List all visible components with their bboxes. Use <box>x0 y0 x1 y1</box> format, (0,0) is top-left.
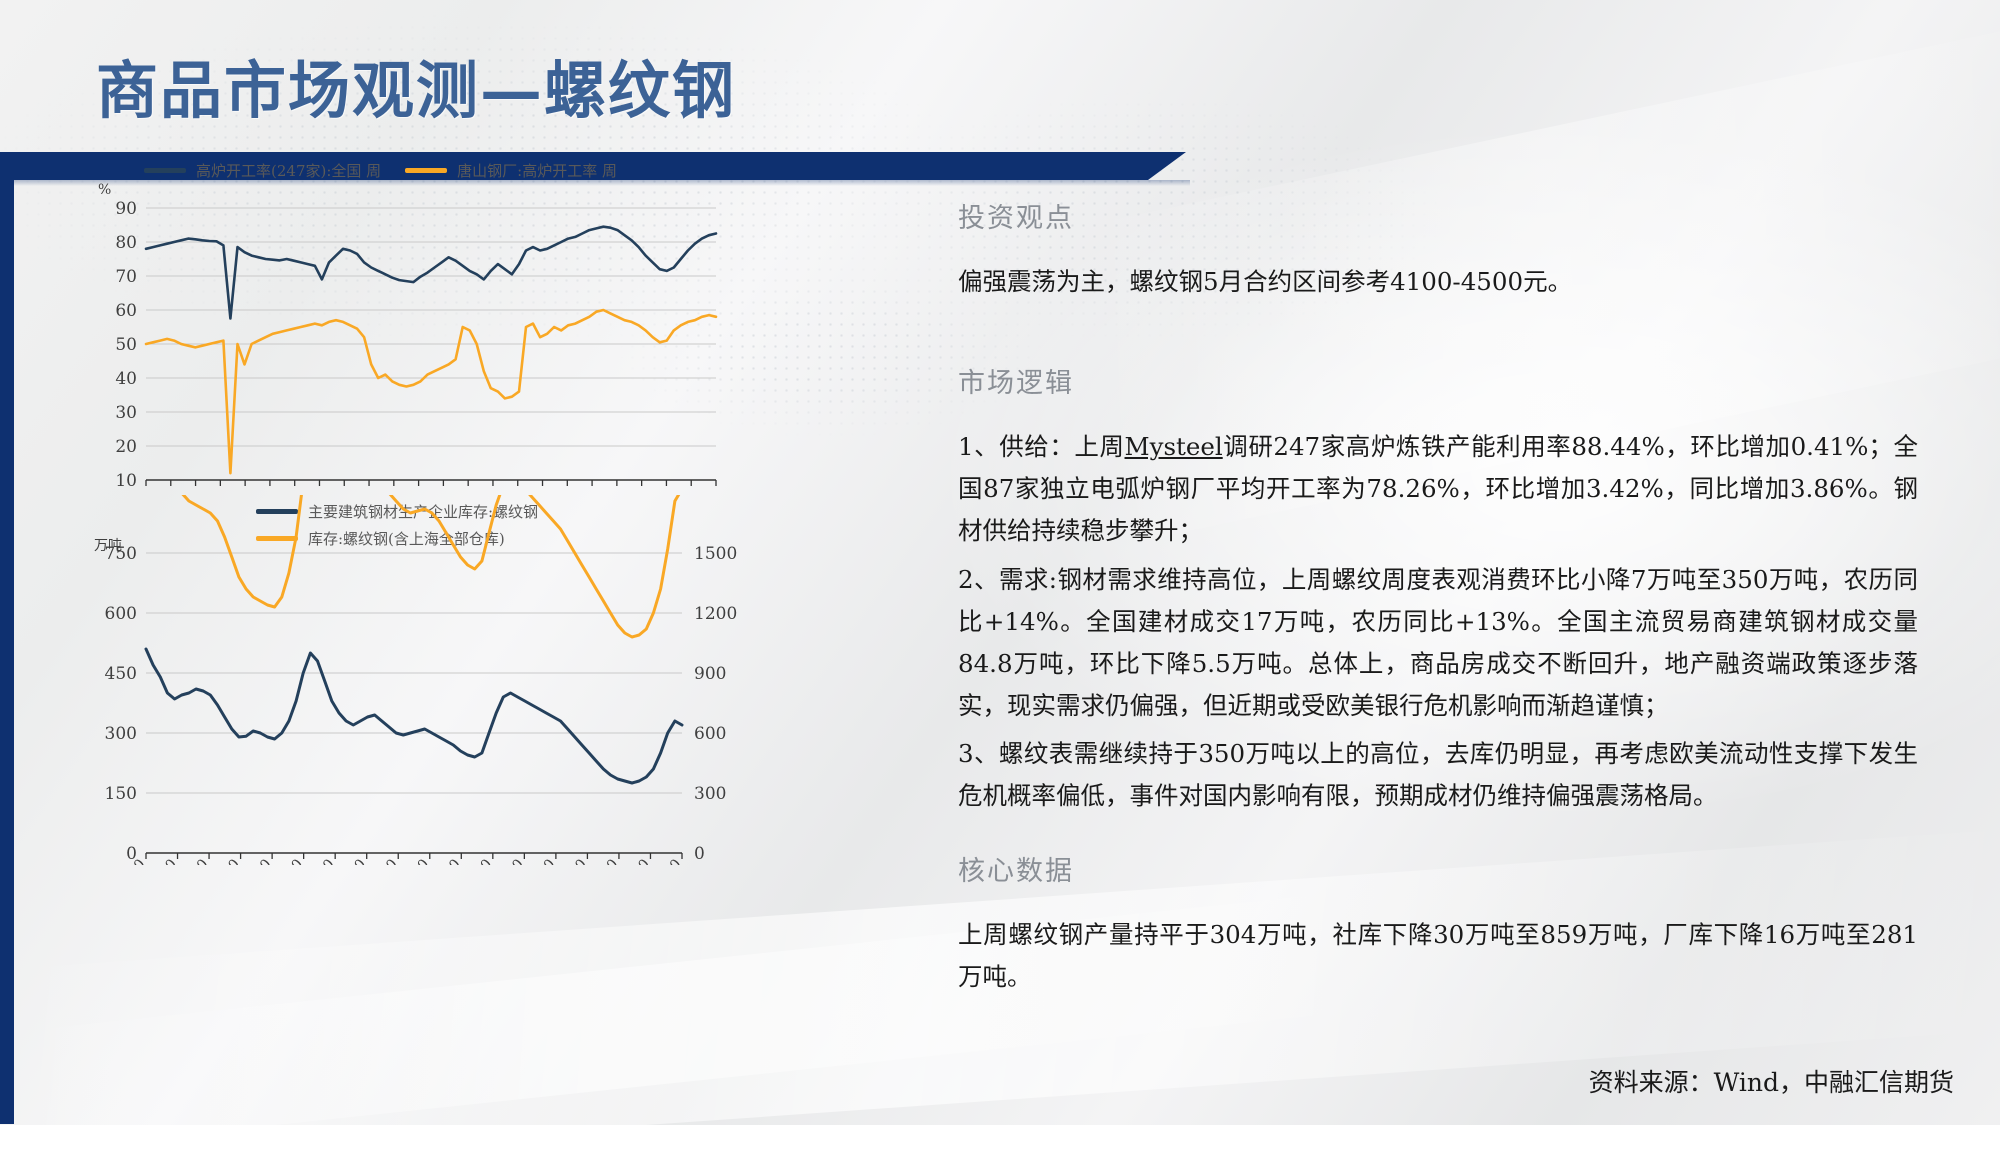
svg-text:600: 600 <box>105 604 137 624</box>
section-1-paragraph-0: 1、供给：上周Mysteel调研247家高炉炼铁产能利用率88.44%，环比增加… <box>958 426 1918 552</box>
svg-text:10: 10 <box>115 471 137 490</box>
svg-text:2021-06-10: 2021-06-10 <box>299 857 369 865</box>
svg-text:150: 150 <box>105 784 137 804</box>
svg-text:1500: 1500 <box>694 544 737 564</box>
svg-text:40: 40 <box>115 369 137 389</box>
section-1-paragraph-1: 2、需求:钢材需求维持高位，上周螺纹周度表观消费环比小降7万吨至350万吨，农历… <box>958 559 1918 728</box>
source-note: 资料来源：Wind，中融汇信期货 <box>1589 1063 1954 1099</box>
spacer <box>958 309 1918 361</box>
slide-background: 商品市场观测—螺纹钢 高炉开工率(247家):全国 周唐山钢厂:高炉开工率 周 … <box>0 0 2000 1125</box>
svg-text:70: 70 <box>115 267 137 287</box>
svg-text:2020-12-10: 2020-12-10 <box>205 857 275 865</box>
svg-text:2020-06-10: 2020-06-10 <box>110 857 180 865</box>
svg-text:2020-10-10: 2020-10-10 <box>173 857 243 865</box>
section-heading-0: 投资观点 <box>958 196 1918 235</box>
left-accent-bar <box>0 152 14 1124</box>
svg-text:90: 90 <box>115 199 137 219</box>
svg-text:2021-12-10: 2021-12-10 <box>394 857 464 865</box>
chart2-plot: 01503004506007500300600900120015002020-0… <box>88 495 748 865</box>
svg-text:2022-10-10: 2022-10-10 <box>551 857 621 865</box>
svg-text:300: 300 <box>694 784 726 804</box>
svg-text:60: 60 <box>115 301 137 321</box>
svg-text:20: 20 <box>115 437 137 457</box>
section-1-paragraph-2: 3、螺纹表需继续持于350万吨以上的高位，去库仍明显，再考虑欧美流动性支撑下发生… <box>958 733 1918 817</box>
svg-text:900: 900 <box>694 664 726 684</box>
svg-text:2021-10-10: 2021-10-10 <box>362 857 432 865</box>
chart-rebar-inventory: 主要建筑钢材生产企业库存:螺纹钢库存:螺纹钢(含上海全部仓库) 万吨 01503… <box>88 495 748 865</box>
svg-text:2022-08-10: 2022-08-10 <box>520 857 590 865</box>
svg-text:2021-02-10: 2021-02-10 <box>236 857 306 865</box>
svg-text:2023-02-10: 2023-02-10 <box>614 857 684 865</box>
svg-text:2022-02-10: 2022-02-10 <box>425 857 495 865</box>
svg-text:2022-04-10: 2022-04-10 <box>457 857 527 865</box>
svg-text:2021-04-10: 2021-04-10 <box>268 857 338 865</box>
svg-text:600: 600 <box>694 724 726 744</box>
section-heading-1: 市场逻辑 <box>958 361 1918 400</box>
svg-text:300: 300 <box>105 724 137 744</box>
analysis-panel: 投资观点偏强震荡为主，螺纹钢5月合约区间参考4100-4500元。市场逻辑1、供… <box>958 196 1918 1057</box>
svg-text:750: 750 <box>105 544 137 564</box>
spacer <box>958 1005 1918 1057</box>
svg-text:2020-08-10: 2020-08-10 <box>141 857 211 865</box>
chart1-plot: 1020304050607080902021-04-022021-05-0220… <box>88 160 728 490</box>
svg-text:2021-08-10: 2021-08-10 <box>331 857 401 865</box>
svg-text:2022-06-10: 2022-06-10 <box>488 857 558 865</box>
section-0-paragraph-0: 偏强震荡为主，螺纹钢5月合约区间参考4100-4500元。 <box>958 261 1918 303</box>
svg-text:50: 50 <box>115 335 137 355</box>
page-title: 商品市场观测—螺纹钢 <box>96 40 736 130</box>
svg-text:1200: 1200 <box>694 604 737 624</box>
chart-blast-furnace-operating-rate: 高炉开工率(247家):全国 周唐山钢厂:高炉开工率 周 % 102030405… <box>88 160 728 490</box>
section-heading-2: 核心数据 <box>958 849 1918 888</box>
spacer <box>958 823 1918 849</box>
svg-text:0: 0 <box>694 844 705 864</box>
svg-text:2020-04-10: 2020-04-10 <box>88 857 149 865</box>
svg-text:30: 30 <box>115 403 137 423</box>
svg-text:80: 80 <box>115 233 137 253</box>
svg-text:450: 450 <box>105 664 137 684</box>
section-2-paragraph-0: 上周螺纹钢产量持平于304万吨，社库下降30万吨至859万吨，厂库下降16万吨至… <box>958 914 1918 998</box>
svg-text:2022-12-10: 2022-12-10 <box>583 857 653 865</box>
